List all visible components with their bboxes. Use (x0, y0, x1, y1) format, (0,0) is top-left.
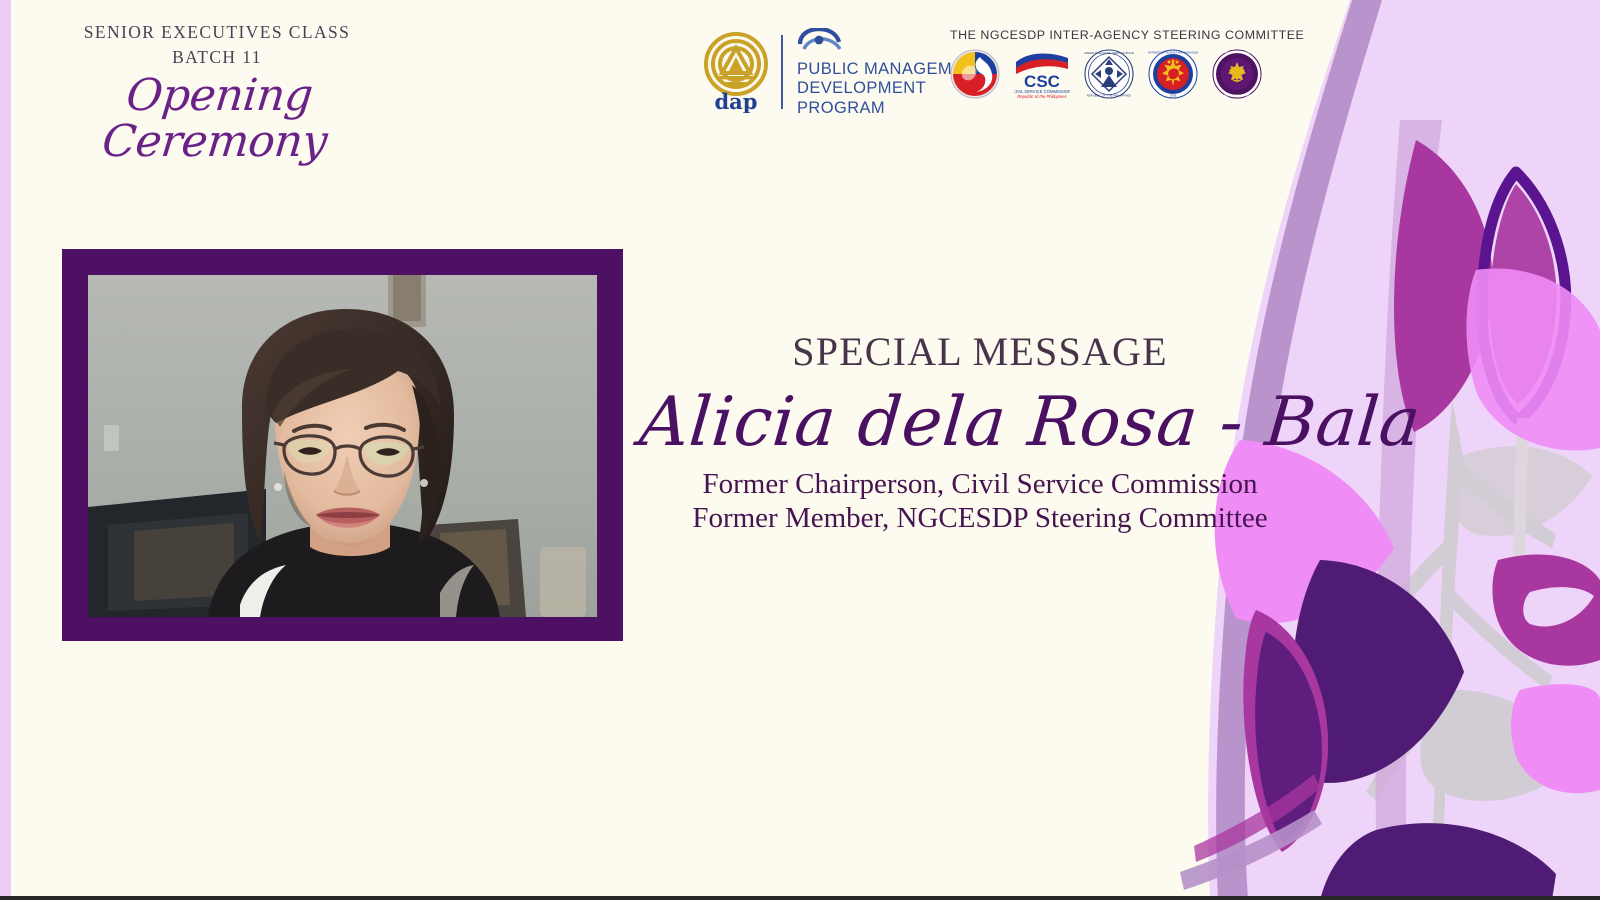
speaker-role-line-2: Former Member, NGCESDP Steering Committe… (640, 502, 1320, 536)
svg-text:REPUBLIC OF THE PHILIPPINES: REPUBLIC OF THE PHILIPPINES (1217, 93, 1257, 97)
speaker-video-frame (62, 249, 623, 641)
csc-logo: CSC CIVIL SERVICE COMMISSION Republic of… (1014, 49, 1070, 99)
speaker-video-feed[interactable] (88, 275, 597, 617)
cesb-seal-logo: CAREER EXECUTIVE SERVICE BOARD REPUBLIC … (1084, 49, 1134, 99)
speaker-role: Former Chairperson, Civil Service Commis… (640, 468, 1320, 536)
dof-seal-logo: DEPARTMENT OF FINANCE REPUBLIC OF THE PH… (1212, 49, 1262, 99)
steering-committee-title: THE NGCESDP INTER-AGENCY STEERING COMMIT… (950, 28, 1262, 42)
svg-text:dap: dap (715, 89, 758, 113)
logo-divider (781, 35, 783, 109)
dap-logo-icon: dap (697, 31, 775, 113)
pmdp-line-3: PROGRAM (797, 99, 986, 118)
left-edge-strip (0, 0, 11, 900)
speaker-name: Alicia dela Rosa - Bala (637, 388, 1323, 457)
svg-text:DEPARTMENT OF FINANCE: DEPARTMENT OF FINANCE (1219, 51, 1254, 55)
svg-text:CAREER EXECUTIVE SERVICE BOARD: CAREER EXECUTIVE SERVICE BOARD (1084, 51, 1134, 55)
svg-text:Republic of the Philippines: Republic of the Philippines (1017, 94, 1067, 99)
bottom-rule (0, 896, 1600, 900)
dbm-seal-logo: DEPARTMENT OF BUDGET AND MANAGEMENT 1936 (1148, 49, 1198, 99)
batch-label: BATCH 11 (52, 45, 382, 70)
opening-ceremony-script-title: Opening Ceremony (47, 73, 387, 165)
svg-text:REPUBLIC OF THE PHILIPPINES: REPUBLIC OF THE PHILIPPINES (1087, 94, 1132, 98)
dap-pmdp-logo-lockup: dap PUBLIC MANAGEMENT DEVELOPMENT PROGRA… (697, 26, 986, 118)
special-message-kicker: SPECIAL MESSAGE (640, 330, 1320, 374)
neda-seal-logo (950, 49, 1000, 99)
presentation-slide: SENIOR EXECUTIVES CLASS BATCH 11 Opening… (0, 0, 1600, 900)
svg-text:1936: 1936 (1170, 94, 1177, 98)
senior-executives-class-label: SENIOR EXECUTIVES CLASS (52, 20, 382, 45)
speaker-role-line-1: Former Chairperson, Civil Service Commis… (640, 468, 1320, 502)
steering-committee-block: THE NGCESDP INTER-AGENCY STEERING COMMIT… (950, 28, 1262, 99)
steering-committee-logo-row: CSC CIVIL SERVICE COMMISSION Republic of… (950, 49, 1262, 99)
svg-text:DEPARTMENT OF BUDGET AND MANAG: DEPARTMENT OF BUDGET AND MANAGEMENT (1148, 51, 1198, 55)
event-title-block: SENIOR EXECUTIVES CLASS BATCH 11 Opening… (52, 20, 382, 165)
special-message-block: SPECIAL MESSAGE Alicia dela Rosa - Bala … (640, 330, 1320, 536)
